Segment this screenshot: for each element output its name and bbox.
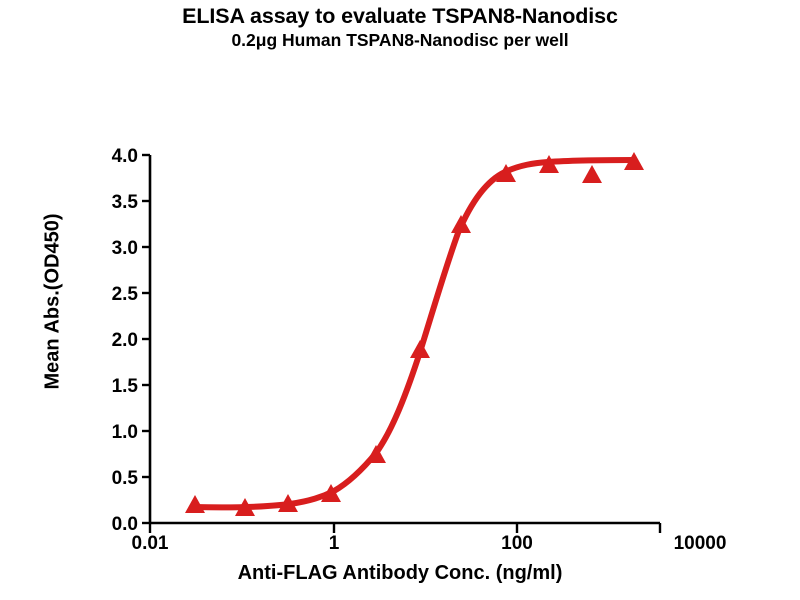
plot-area — [0, 0, 800, 600]
data-point — [582, 165, 602, 183]
x-axis-ticks — [150, 523, 660, 533]
fit-curve — [193, 160, 634, 507]
data-point — [185, 495, 205, 513]
elisa-chart-figure: ELISA assay to evaluate TSPAN8-Nanodisc … — [0, 0, 800, 600]
data-markers — [185, 152, 644, 516]
axis-lines — [150, 155, 660, 523]
data-point — [410, 340, 430, 358]
